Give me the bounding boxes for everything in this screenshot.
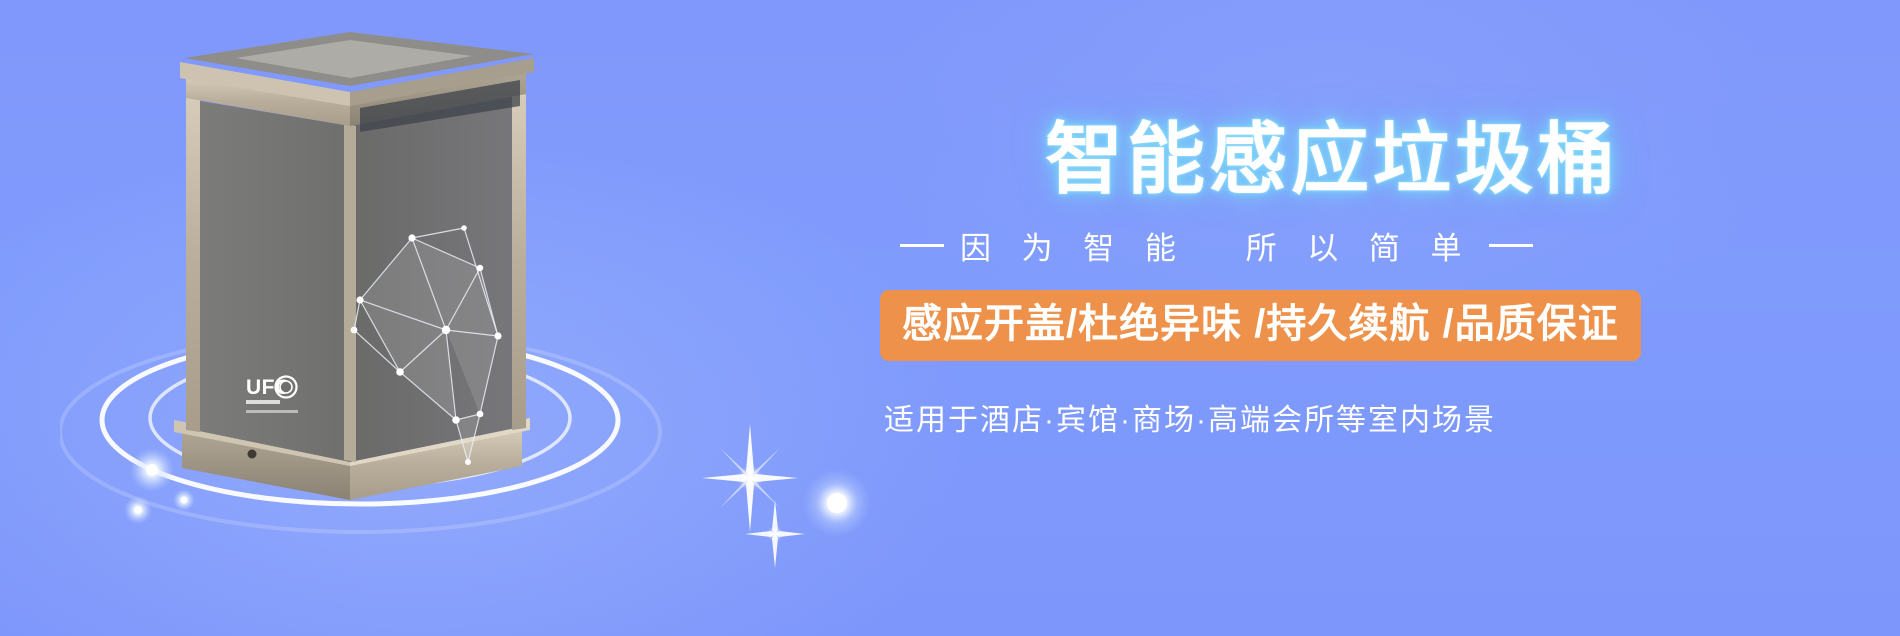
subline-rule-right — [1489, 244, 1533, 247]
subline-rule-left — [900, 244, 944, 247]
product-graphic: UFO — [60, 0, 900, 636]
sparkle-star-large — [702, 424, 798, 532]
bin-sensor-port — [248, 450, 257, 459]
network-node — [461, 225, 467, 231]
brand-logo-inner-ring — [280, 381, 292, 393]
sparkle-star-small — [745, 500, 805, 568]
network-node — [465, 459, 471, 465]
network-node — [396, 368, 404, 376]
network-node — [477, 411, 484, 418]
sparkle-orb-core — [827, 493, 847, 513]
use-case-footline: 适用于酒店·宾馆·商场·高端会所等室内场景 — [884, 395, 1820, 439]
feature-tagline-bar: 感应开盖/杜绝异味 /持久续航 /品质保证 — [880, 290, 1641, 362]
bin-corner-trim-center — [344, 124, 356, 462]
network-node — [356, 296, 363, 303]
sparkle-cluster-right — [702, 424, 871, 568]
network-node — [442, 326, 450, 334]
brand-logo-subtext-cn — [246, 400, 280, 404]
bin-corner-trim-right — [512, 94, 526, 430]
product-illustration: UFO — [60, 0, 900, 636]
network-node — [494, 332, 501, 339]
bin-face-left — [194, 100, 350, 462]
sparkle-core — [134, 506, 142, 514]
network-node — [477, 265, 483, 271]
headline: 智能感应垃圾桶 — [1045, 118, 1820, 201]
network-node — [408, 234, 415, 241]
sparkle-core — [146, 464, 158, 476]
promo-banner: UFO — [0, 0, 1900, 636]
network-node — [351, 327, 358, 334]
copy-block: 智能感应垃圾桶 因 为 智 能 所 以 简 单 感应开盖/杜绝异味 /持久续航 … — [880, 118, 1820, 439]
network-node — [452, 416, 460, 424]
subline-text: 因 为 智 能 所 以 简 单 — [960, 223, 1473, 268]
sparkle-core — [181, 497, 188, 504]
subline: 因 为 智 能 所 以 简 单 — [900, 223, 1820, 268]
brand-logo-subtext-en — [246, 410, 298, 413]
bin-corner-trim-left — [186, 96, 200, 432]
